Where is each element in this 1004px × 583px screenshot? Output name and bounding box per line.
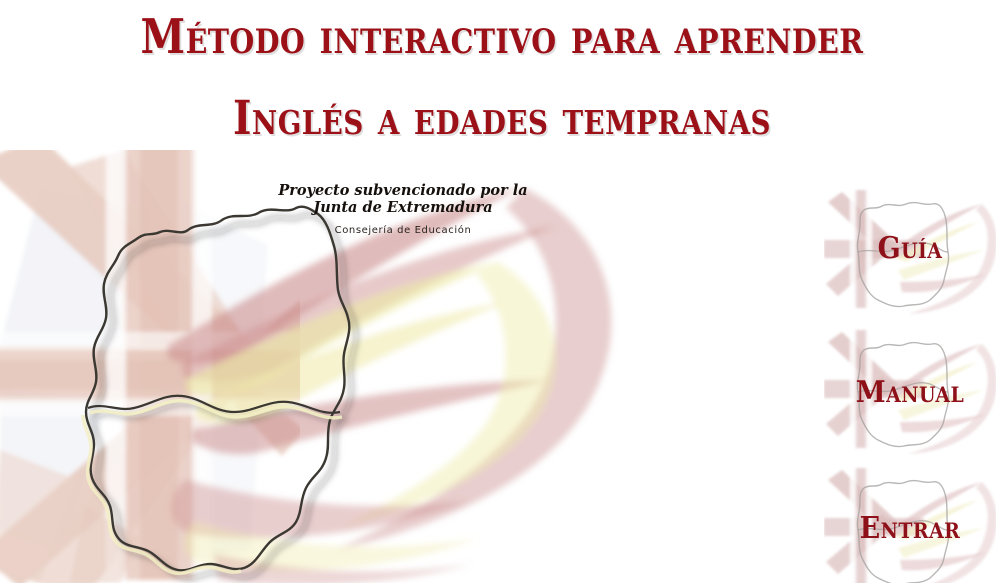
nav-button-entrar[interactable]: Entrar — [824, 466, 996, 583]
page-title: Método interactivo para aprender Inglés … — [0, 0, 1004, 160]
nav-label-manual: Manual — [833, 376, 988, 410]
title-line-2: Inglés a edades tempranas — [80, 90, 923, 148]
extremadura-map-illustration — [0, 150, 660, 583]
button-map-graphic-manual — [824, 328, 996, 456]
landing-page: Método interactivo para aprender Inglés … — [0, 0, 1004, 583]
nav-label-entrar: Entrar — [833, 512, 988, 546]
nav-button-guia[interactable]: Guía — [824, 188, 996, 316]
nav-label-guia: Guía — [833, 232, 988, 266]
title-line-1: Método interactivo para aprender — [80, 8, 923, 66]
nav-button-manual[interactable]: Manual — [824, 328, 996, 456]
button-map-graphic-entrar — [824, 466, 996, 583]
button-map-graphic-guia — [824, 188, 996, 316]
